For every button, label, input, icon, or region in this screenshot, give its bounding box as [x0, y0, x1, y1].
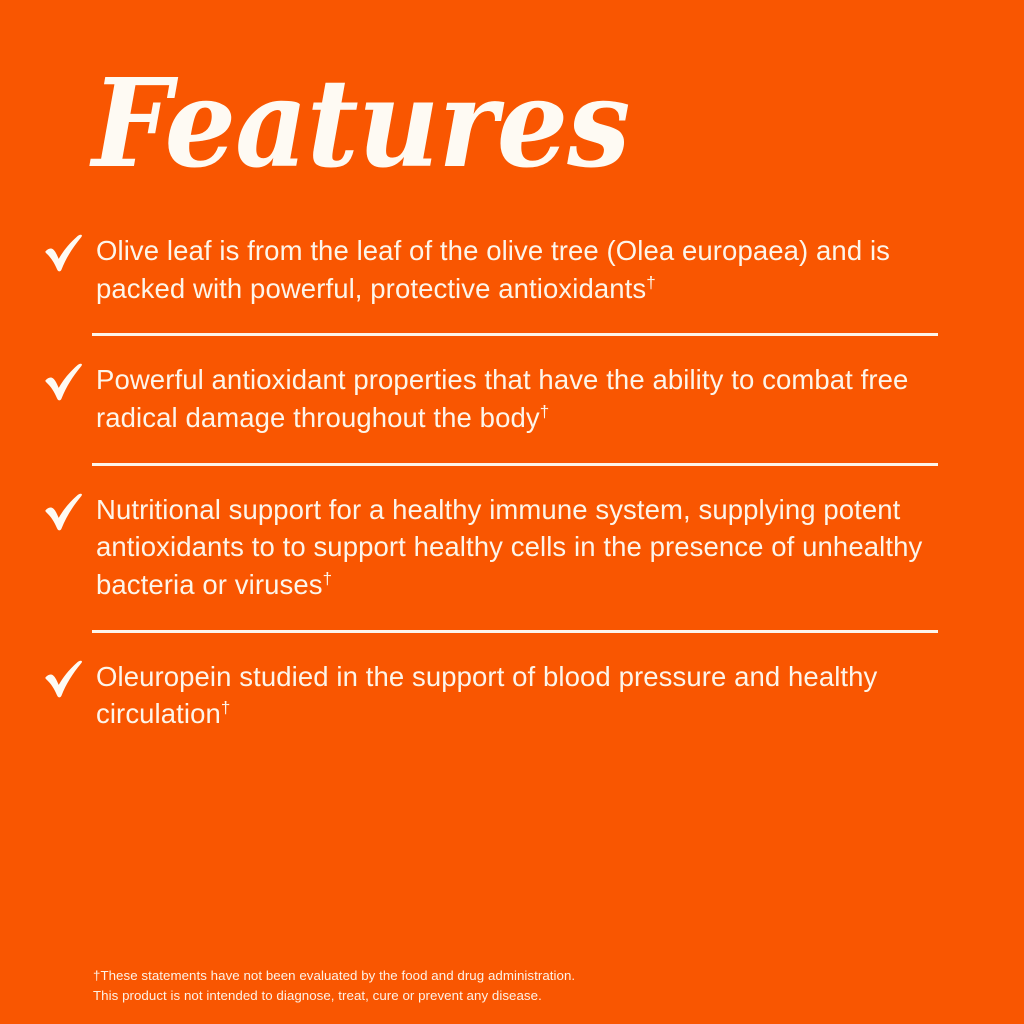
check-icon [44, 363, 96, 401]
feature-row-3: Nutritional support for a healthy immune… [0, 491, 981, 604]
list-item: Nutritional support for a healthy immune… [0, 491, 1024, 658]
spacer [0, 437, 981, 463]
page-title: Features [92, 62, 902, 184]
feature-row-4: Oleuropein studied in the support of blo… [0, 658, 981, 733]
spacer [0, 466, 981, 491]
disclaimer: †These statements have not been evaluate… [93, 966, 575, 1006]
feature-text-4: Oleuropein studied in the support of blo… [96, 658, 981, 733]
feature-row-2: Powerful antioxidant properties that hav… [0, 361, 981, 436]
spacer [0, 307, 981, 333]
list-item: Oleuropein studied in the support of blo… [0, 658, 1024, 733]
disclaimer-line-2: This product is not intended to diagnose… [93, 986, 575, 1006]
spacer [0, 633, 981, 658]
feature-text-2: Powerful antioxidant properties that hav… [96, 361, 981, 436]
features-list: Olive leaf is from the leaf of the olive… [0, 232, 1024, 733]
disclaimer-line-1: †These statements have not been evaluate… [93, 966, 575, 986]
feature-row-1: Olive leaf is from the leaf of the olive… [0, 232, 981, 307]
check-icon [44, 493, 96, 531]
check-icon [44, 660, 96, 698]
spacer [0, 336, 981, 361]
list-item: Olive leaf is from the leaf of the olive… [0, 232, 1024, 361]
feature-text-3: Nutritional support for a healthy immune… [96, 491, 981, 604]
feature-text-1: Olive leaf is from the leaf of the olive… [96, 232, 981, 307]
page-title-container: Features [92, 62, 972, 184]
spacer [0, 604, 981, 630]
check-icon [44, 234, 96, 272]
list-item: Powerful antioxidant properties that hav… [0, 361, 1024, 490]
features-slide: Features Olive leaf is from the leaf of … [0, 0, 1024, 1024]
